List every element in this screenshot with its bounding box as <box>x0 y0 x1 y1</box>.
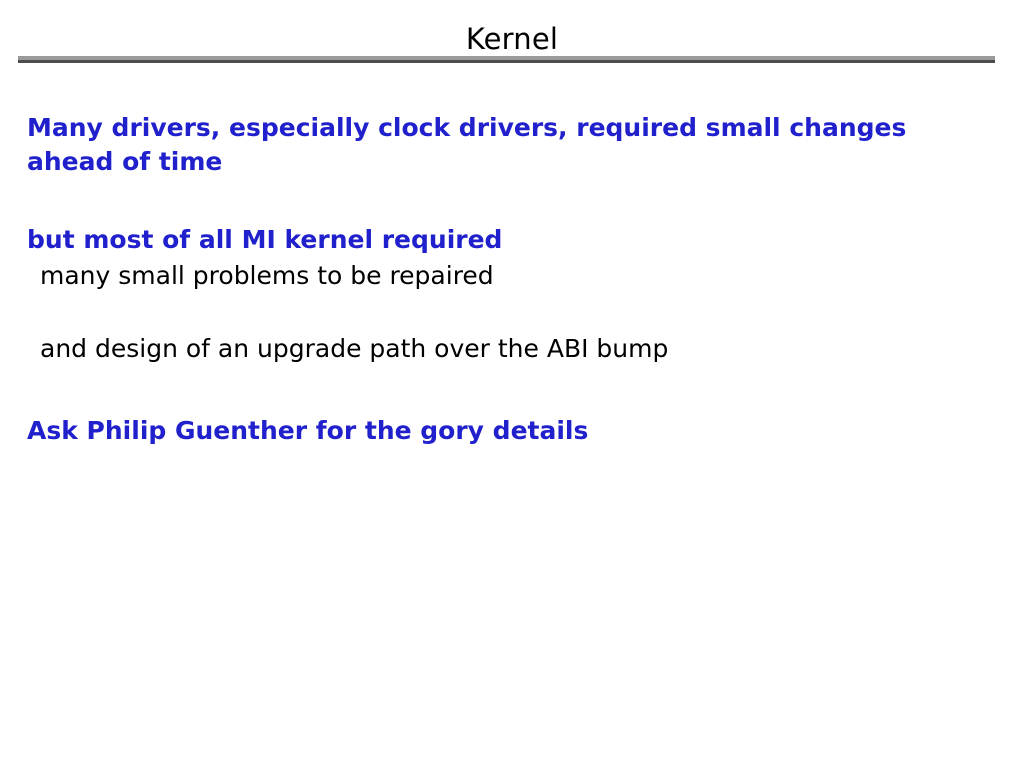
body-line-mi-kernel-required: but most of all MI kernel required <box>27 223 927 257</box>
body-line-small-problems-repaired: many small problems to be repaired <box>40 259 940 293</box>
slide-body: Many drivers, especially clock drivers, … <box>0 0 1024 768</box>
body-line-drivers-changes: Many drivers, especially clock drivers, … <box>27 111 992 179</box>
slide: Kernel Many drivers, especially clock dr… <box>0 0 1024 768</box>
body-line-ask-philip-guenther: Ask Philip Guenther for the gory details <box>27 414 927 448</box>
body-line-upgrade-path-abi-bump: and design of an upgrade path over the A… <box>40 332 940 366</box>
